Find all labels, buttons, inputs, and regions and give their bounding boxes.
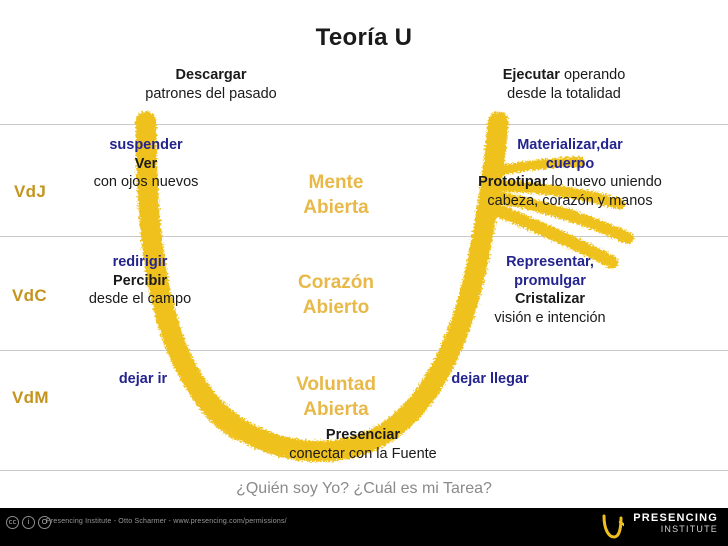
left-item-ver: suspender Ver con ojos nuevos	[36, 136, 256, 192]
left-item-ver-blue: suspender	[109, 137, 182, 153]
header-left-bold: Descargar	[176, 67, 247, 83]
right-item-prototipar-sub: cabeza, corazón y manos	[487, 193, 652, 209]
header-right-bold: Ejecutar	[503, 67, 560, 83]
right-item-cristalizar-blue2: promulgar	[514, 273, 586, 289]
presencing-u-logo-icon	[600, 514, 624, 540]
center-label-mente: Mente Abierta	[246, 170, 426, 220]
brand-line-2: INSTITUTE	[633, 525, 718, 534]
right-item-prototipar-bold-rest: lo nuevo uniendo	[547, 174, 662, 190]
center-label-mente-line1: Mente	[309, 172, 364, 193]
header-right-rest: operando	[560, 67, 625, 83]
left-item-ver-sub: con ojos nuevos	[94, 174, 199, 190]
presenciar-sub: conectar con la Fuente	[289, 446, 437, 462]
footer-credit: Presencing Institute - Otto Scharmer - w…	[46, 518, 287, 525]
cc-icon: cc	[6, 516, 19, 529]
divider-4	[0, 470, 728, 471]
center-label-corazon-line1: Corazón	[298, 272, 374, 293]
divider-2	[0, 236, 728, 237]
divider-3	[0, 350, 728, 351]
header-right-sub: desde la totalidad	[507, 86, 621, 102]
header-left-sub: patrones del pasado	[145, 86, 276, 102]
brand-wordmark: PRESENCING INSTITUTE	[633, 513, 718, 534]
stage-label-vdm: VdM	[12, 388, 49, 408]
center-label-mente-line2: Abierta	[303, 197, 368, 218]
right-item-cristalizar-sub: visión e intención	[494, 310, 605, 326]
right-item-prototipar: Materializar,dar cuerpo Prototipar lo nu…	[420, 136, 720, 210]
right-item-prototipar-blue2: cuerpo	[546, 156, 594, 172]
header-right: Ejecutar operando desde la totalidad	[404, 66, 724, 103]
right-item-cristalizar: Representar, promulgar Cristalizar visió…	[420, 253, 680, 327]
center-label-corazon-line2: Abierto	[303, 297, 370, 318]
header-left: Descargar patrones del pasado	[66, 66, 356, 103]
left-item-percibir-bold: Percibir	[113, 273, 167, 289]
right-item-cristalizar-blue: Representar,	[506, 254, 594, 270]
center-label-corazon: Corazón Abierto	[246, 270, 426, 320]
attribution-icon: i	[22, 516, 35, 529]
question-line: ¿Quién soy Yo? ¿Cuál es mi Tarea?	[0, 480, 728, 498]
right-item-prototipar-bold: Prototipar	[478, 174, 547, 190]
right-item-prototipar-blue: Materializar,dar	[517, 137, 623, 153]
presenciar-bold: Presenciar	[326, 427, 400, 443]
right-item-dejar-llegar-blue: dejar llegar	[451, 371, 528, 387]
center-label-voluntad-line2: Abierta	[303, 399, 368, 420]
creative-commons-badges: cc i O	[6, 516, 51, 529]
right-item-dejar-llegar: dejar llegar	[390, 370, 590, 389]
left-item-percibir: redirigir Percibir desde el campo	[30, 253, 250, 309]
bottom-center-presenciar: Presenciar conectar con la Fuente	[228, 426, 498, 463]
left-item-dejar-ir-blue: dejar ir	[119, 371, 167, 387]
left-item-dejar-ir: dejar ir	[48, 370, 238, 389]
divider-1	[0, 124, 728, 125]
right-item-cristalizar-bold: Cristalizar	[515, 291, 585, 307]
left-item-ver-bold: Ver	[135, 156, 158, 172]
left-item-percibir-blue: redirigir	[113, 254, 168, 270]
center-label-voluntad-line1: Voluntad	[296, 374, 376, 395]
page-title: Teoría U	[0, 24, 728, 52]
slide-canvas: Teoría U Descargar patrones del pasado E…	[0, 0, 728, 546]
left-item-percibir-sub: desde el campo	[89, 291, 191, 307]
brand-line-1: PRESENCING	[633, 513, 718, 525]
